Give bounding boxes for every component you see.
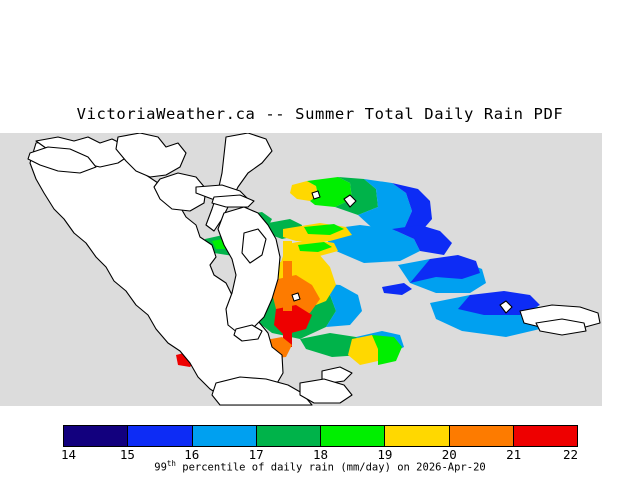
- weather-map-page: VictoriaWeather.ca -- Summer Total Daily…: [0, 0, 640, 480]
- colorbar[interactable]: [63, 425, 578, 447]
- colorbar-caption: 99th percentile of daily rain (mm/day) o…: [0, 459, 640, 474]
- caption-prefix: 99: [154, 462, 167, 474]
- colorbar-segment-19-20[interactable]: [385, 426, 449, 446]
- colorbar-segment-17-18[interactable]: [257, 426, 321, 446]
- colorbar-segment-21-22[interactable]: [514, 426, 577, 446]
- contour-band-20-21-edge: [283, 261, 292, 311]
- colorbar-segments[interactable]: [63, 425, 578, 447]
- colorbar-segment-20-21[interactable]: [450, 426, 514, 446]
- colorbar-segment-18-19[interactable]: [321, 426, 385, 446]
- colorbar-segment-16-17[interactable]: [193, 426, 257, 446]
- colorbar-segment-15-16[interactable]: [128, 426, 192, 446]
- map-panel[interactable]: [0, 133, 602, 406]
- page-title: VictoriaWeather.ca -- Summer Total Daily…: [0, 105, 640, 123]
- station-marker-4: [292, 293, 300, 301]
- caption-superscript: th: [167, 459, 176, 468]
- station-marker-3: [312, 191, 320, 199]
- caption-suffix: percentile of daily rain (mm/day) on 202…: [176, 462, 486, 474]
- rainfall-contour-map[interactable]: [0, 133, 602, 406]
- colorbar-segment-14-15[interactable]: [64, 426, 128, 446]
